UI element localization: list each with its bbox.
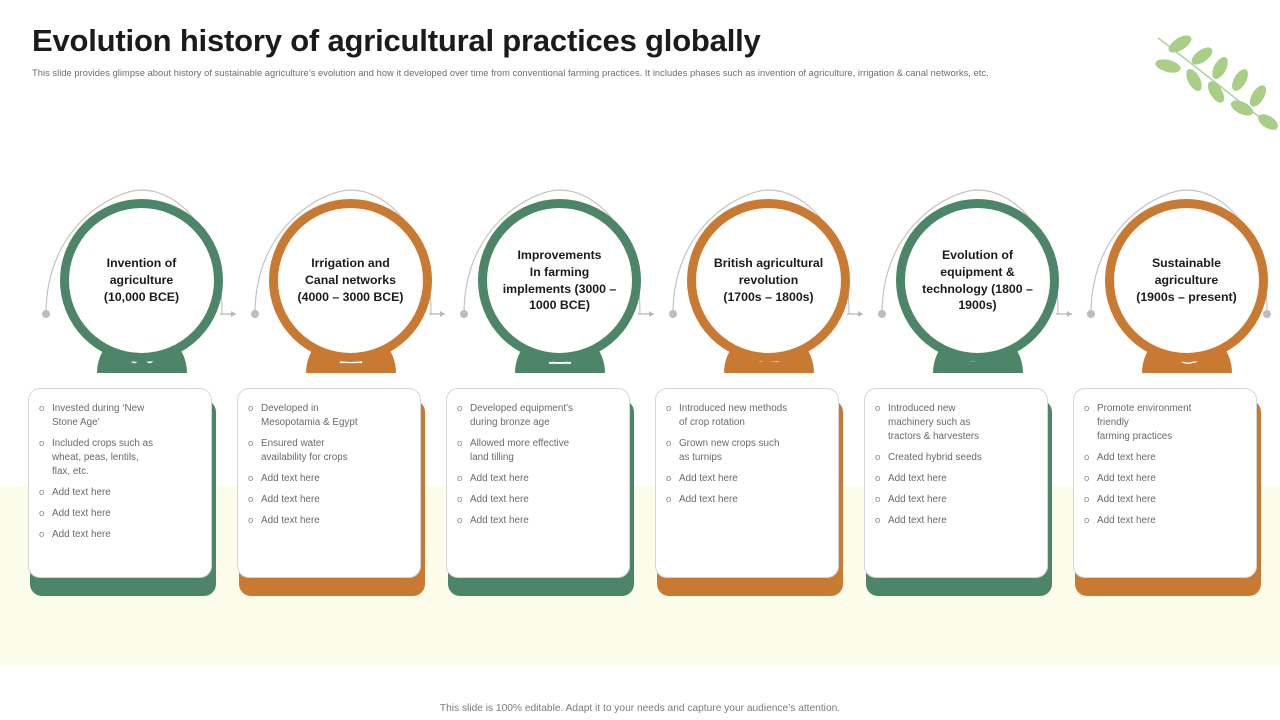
- bullet-text: Introduced new machinery such as tractor…: [888, 402, 1037, 444]
- header: Evolution history of agricultural practi…: [32, 24, 1152, 80]
- bullet-text: Add text here: [261, 493, 410, 507]
- bullet-marker: o: [1084, 514, 1097, 527]
- timeline-step-4: British agricultural revolution (1700s –…: [651, 188, 860, 608]
- list-item: o Allowed more effective land tilling: [457, 437, 619, 465]
- bullet-list: o Invested during ‘New Stone Age’ o Incl…: [39, 402, 201, 543]
- step-card-4[interactable]: o Introduced new methods of crop rotatio…: [655, 388, 845, 596]
- step-circle-3[interactable]: Improvements In farming implements (3000…: [478, 199, 641, 362]
- bullet-marker: o: [457, 402, 470, 415]
- bullet-text: Add text here: [888, 472, 1037, 486]
- bullet-text: Ensured water availability for crops: [261, 437, 410, 465]
- bullet-marker: o: [248, 437, 261, 450]
- bullet-list: o Promote environment friendly farming p…: [1084, 402, 1246, 528]
- bullet-marker: o: [457, 472, 470, 485]
- bullet-marker: o: [248, 493, 261, 506]
- list-item: o Add text here: [248, 493, 410, 507]
- bullet-text: Add text here: [261, 472, 410, 486]
- bullet-text: Add text here: [261, 514, 410, 528]
- step-card-2[interactable]: o Developed in Mesopotamia & Egypt o Ens…: [237, 388, 427, 596]
- bullet-text: Add text here: [52, 528, 201, 542]
- list-item: o Add text here: [1084, 451, 1246, 465]
- bullet-text: Introduced new methods of crop rotation: [679, 402, 828, 430]
- bullet-marker: o: [875, 472, 888, 485]
- card-body: o Introduced new machinery such as tract…: [864, 388, 1048, 578]
- bullet-marker: o: [875, 514, 888, 527]
- list-item: o Add text here: [248, 514, 410, 528]
- step-card-5[interactable]: o Introduced new machinery such as tract…: [864, 388, 1054, 596]
- bullet-text: Add text here: [679, 472, 828, 486]
- list-item: o Add text here: [39, 507, 201, 521]
- list-item: o Developed equipment's during bronze ag…: [457, 402, 619, 430]
- bullet-list: o Introduced new machinery such as tract…: [875, 402, 1037, 528]
- list-item: o Introduced new methods of crop rotatio…: [666, 402, 828, 430]
- list-item: o Add text here: [457, 493, 619, 507]
- list-item: o Add text here: [1084, 493, 1246, 507]
- list-item: o Ensured water availability for crops: [248, 437, 410, 465]
- timeline-step-5: Evolution of equipment & technology (180…: [860, 188, 1069, 608]
- bullet-list: o Developed equipment's during bronze ag…: [457, 402, 619, 528]
- list-item: o Promote environment friendly farming p…: [1084, 402, 1246, 444]
- step-title: British agricultural revolution (1700s –…: [708, 255, 829, 306]
- list-item: o Developed in Mesopotamia & Egypt: [248, 402, 410, 430]
- timeline-steps: Invention of agriculture (10,000 BCE) o …: [24, 188, 1262, 608]
- step-title: Sustainable agriculture (1900s – present…: [1130, 255, 1242, 306]
- card-body: o Developed in Mesopotamia & Egypt o Ens…: [237, 388, 421, 578]
- step-title: Invention of agriculture (10,000 BCE): [98, 255, 185, 306]
- bullet-marker: o: [875, 451, 888, 464]
- timeline-step-1: Invention of agriculture (10,000 BCE) o …: [24, 188, 233, 608]
- list-item: o Included crops such as wheat, peas, le…: [39, 437, 201, 479]
- card-body: o Developed equipment's during bronze ag…: [446, 388, 630, 578]
- bullet-marker: o: [1084, 451, 1097, 464]
- list-item: o Add text here: [666, 493, 828, 507]
- bullet-text: Included crops such as wheat, peas, lent…: [52, 437, 201, 479]
- page-subtitle: This slide provides glimpse about histor…: [32, 67, 1152, 80]
- bullet-text: Add text here: [470, 514, 619, 528]
- bullet-marker: o: [457, 493, 470, 506]
- bullet-marker: o: [39, 507, 52, 520]
- bullet-marker: o: [875, 402, 888, 415]
- step-circle-1[interactable]: Invention of agriculture (10,000 BCE): [60, 199, 223, 362]
- bullet-text: Allowed more effective land tilling: [470, 437, 619, 465]
- list-item: o Add text here: [457, 514, 619, 528]
- step-title: Evolution of equipment & technology (180…: [916, 247, 1039, 315]
- bullet-text: Developed in Mesopotamia & Egypt: [261, 402, 410, 430]
- list-item: o Add text here: [875, 493, 1037, 507]
- bullet-marker: o: [666, 472, 679, 485]
- timeline-step-6: Sustainable agriculture (1900s – present…: [1069, 188, 1278, 608]
- timeline-step-2: Irrigation and Canal networks (4000 – 30…: [233, 188, 442, 608]
- card-body: o Promote environment friendly farming p…: [1073, 388, 1257, 578]
- bullet-marker: o: [666, 402, 679, 415]
- bullet-text: Developed equipment's during bronze age: [470, 402, 619, 430]
- list-item: o Add text here: [39, 528, 201, 542]
- list-item: o Add text here: [39, 486, 201, 500]
- bullet-marker: o: [39, 528, 52, 541]
- list-item: o Add text here: [875, 514, 1037, 528]
- list-item: o Add text here: [457, 472, 619, 486]
- bullet-text: Add text here: [1097, 514, 1246, 528]
- list-item: o Invested during ‘New Stone Age’: [39, 402, 201, 430]
- list-item: o Introduced new machinery such as tract…: [875, 402, 1037, 444]
- list-item: o Add text here: [666, 472, 828, 486]
- bullet-marker: o: [666, 437, 679, 450]
- list-item: o Grown new crops such as turnips: [666, 437, 828, 465]
- bullet-text: Grown new crops such as turnips: [679, 437, 828, 465]
- slide-canvas: Evolution history of agricultural practi…: [0, 0, 1280, 720]
- bullet-text: Add text here: [470, 493, 619, 507]
- bullet-marker: o: [248, 514, 261, 527]
- step-circle-4[interactable]: British agricultural revolution (1700s –…: [687, 199, 850, 362]
- list-item: o Add text here: [248, 472, 410, 486]
- bullet-list: o Introduced new methods of crop rotatio…: [666, 402, 828, 507]
- bullet-text: Add text here: [1097, 472, 1246, 486]
- bullet-list: o Developed in Mesopotamia & Egypt o Ens…: [248, 402, 410, 528]
- bullet-marker: o: [875, 493, 888, 506]
- bullet-text: Add text here: [1097, 493, 1246, 507]
- footer-note: This slide is 100% editable. Adapt it to…: [0, 703, 1280, 714]
- step-card-1[interactable]: o Invested during ‘New Stone Age’ o Incl…: [28, 388, 218, 596]
- page-title: Evolution history of agricultural practi…: [32, 24, 1152, 58]
- card-body: o Invested during ‘New Stone Age’ o Incl…: [28, 388, 212, 578]
- bullet-marker: o: [457, 437, 470, 450]
- bullet-marker: o: [1084, 402, 1097, 415]
- bullet-text: Promote environment friendly farming pra…: [1097, 402, 1246, 444]
- bullet-text: Add text here: [470, 472, 619, 486]
- bullet-text: Add text here: [52, 507, 201, 521]
- bullet-marker: o: [39, 402, 52, 415]
- bullet-marker: o: [248, 402, 261, 415]
- step-card-3[interactable]: o Developed equipment's during bronze ag…: [446, 388, 636, 596]
- bullet-text: Created hybrid seeds: [888, 451, 1037, 465]
- bullet-text: Add text here: [1097, 451, 1246, 465]
- list-item: o Add text here: [1084, 472, 1246, 486]
- bullet-marker: o: [457, 514, 470, 527]
- bullet-text: Add text here: [52, 486, 201, 500]
- bullet-text: Invested during ‘New Stone Age’: [52, 402, 201, 430]
- list-item: o Add text here: [1084, 514, 1246, 528]
- leaf-branch-icon: [1150, 22, 1280, 144]
- bullet-marker: o: [39, 486, 52, 499]
- card-body: o Introduced new methods of crop rotatio…: [655, 388, 839, 578]
- bullet-marker: o: [666, 493, 679, 506]
- list-item: o Add text here: [875, 472, 1037, 486]
- bullet-marker: o: [39, 437, 52, 450]
- bullet-text: Add text here: [888, 514, 1037, 528]
- bullet-marker: o: [248, 472, 261, 485]
- step-circle-2[interactable]: Irrigation and Canal networks (4000 – 30…: [269, 199, 432, 362]
- step-title: Improvements In farming implements (3000…: [497, 247, 622, 315]
- list-item: o Created hybrid seeds: [875, 451, 1037, 465]
- timeline-step-3: Improvements In farming implements (3000…: [442, 188, 651, 608]
- step-circle-5[interactable]: Evolution of equipment & technology (180…: [896, 199, 1059, 362]
- step-card-6[interactable]: o Promote environment friendly farming p…: [1073, 388, 1263, 596]
- bullet-marker: o: [1084, 493, 1097, 506]
- step-circle-6[interactable]: Sustainable agriculture (1900s – present…: [1105, 199, 1268, 362]
- bullet-text: Add text here: [888, 493, 1037, 507]
- bullet-marker: o: [1084, 472, 1097, 485]
- step-title: Irrigation and Canal networks (4000 – 30…: [292, 255, 410, 306]
- bullet-text: Add text here: [679, 493, 828, 507]
